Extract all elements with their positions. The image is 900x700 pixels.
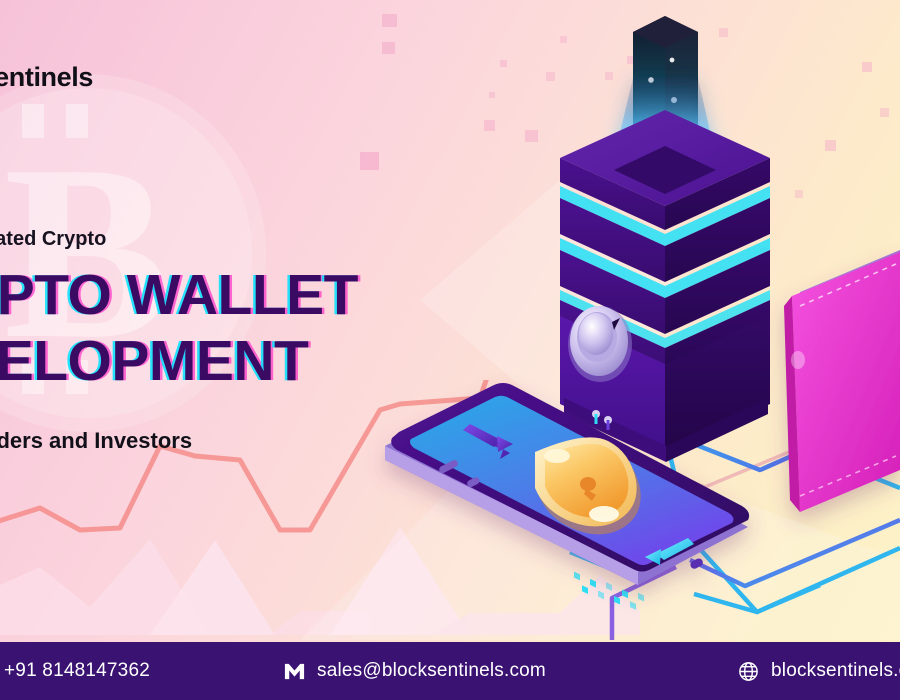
hero-eyebrow: Top Rated Crypto	[0, 228, 106, 251]
footer-email-text: sales@blocksentinels.com	[317, 660, 546, 682]
headline-line-2: DEVELOPMENT	[0, 328, 358, 394]
vault-dial	[568, 306, 632, 382]
page-title: CRYPTO WALLET DEVELOPMENT	[0, 262, 358, 394]
globe-icon	[737, 660, 760, 683]
footer-phone-item[interactable]: +91 8148147362	[0, 660, 150, 683]
contact-footer-bar: +91 8148147362 sales@blocksentinels.com …	[0, 642, 900, 700]
gmail-m-icon	[283, 660, 306, 683]
brand-logo[interactable]: Blocksentinels	[0, 62, 93, 93]
footer-email-item[interactable]: sales@blocksentinels.com	[283, 660, 546, 683]
footer-phone-text: +91 8148147362	[4, 660, 150, 682]
footer-website-item[interactable]: blocksentinels.com	[737, 660, 900, 683]
crypto-wallet-purse	[784, 250, 900, 512]
hero-subtitle: for Traders and Investors	[0, 428, 192, 454]
marketing-banner: B	[0, 0, 900, 700]
footer-website-text: blocksentinels.com	[771, 660, 900, 682]
headline-line-1: CRYPTO WALLET	[0, 262, 358, 328]
